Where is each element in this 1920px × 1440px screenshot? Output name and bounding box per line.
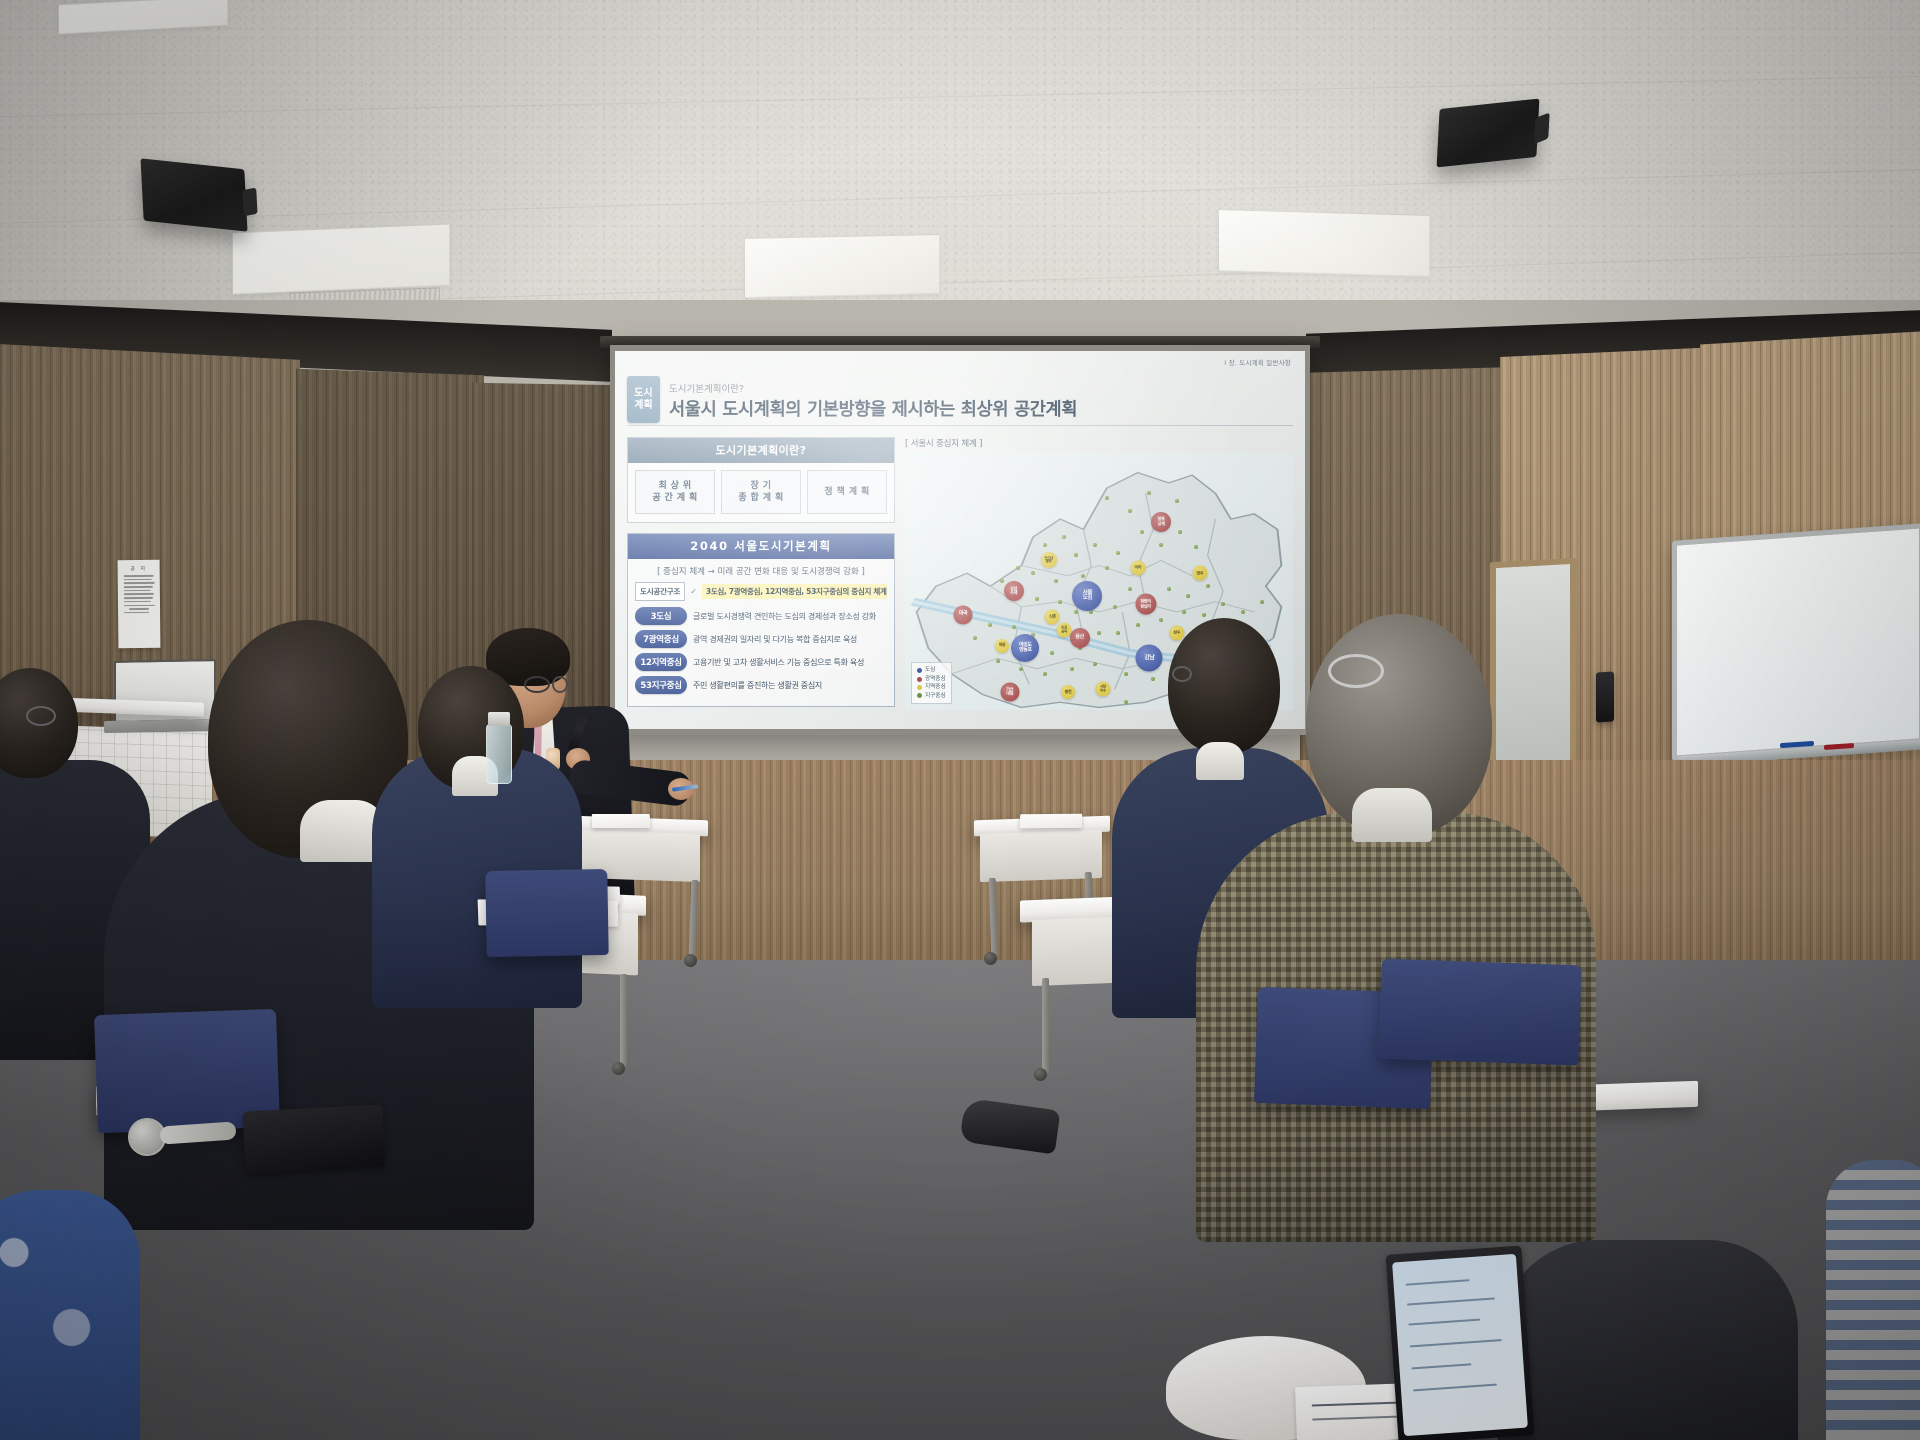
map-node-cheongnyangni: 청량리왕십리 (1135, 594, 1156, 615)
attendee-body (1498, 1240, 1798, 1440)
district-center-dot (1043, 543, 1047, 547)
smartphone-on-desk[interactable] (242, 1104, 385, 1173)
map-node-yongsan: 용산 (1070, 628, 1090, 648)
slide-header-tab: 도시 계획 (627, 376, 660, 423)
desk-front-panel (980, 830, 1102, 882)
district-center-dot (1147, 491, 1151, 495)
slide-header: 도시 계획 도시기본계획이란? 서울시 도시계획의 기본방향을 제시하는 최상위… (627, 376, 1293, 421)
district-center-dot (1167, 587, 1171, 591)
slide-left-column: 도시기본계획이란? 최 상 위 공 간 계 획 장 기 (627, 437, 895, 710)
map-node-sinchon: 신촌 (1045, 610, 1060, 625)
map-node-magok: 마곡 (954, 605, 973, 624)
district-center-dot (1116, 551, 1120, 555)
district-center-dot (1151, 677, 1155, 681)
whiteboard (1672, 523, 1920, 761)
legend-label: 도심 (925, 666, 935, 674)
slide-header-text: 도시기본계획이란? 서울시 도시계획의 기본방향을 제시하는 최상위 공간계획 (669, 381, 1293, 421)
notice-title: 공 지 (122, 565, 156, 572)
district-center-dot (1241, 610, 1245, 614)
chair-back (485, 869, 608, 957)
laptop-base (104, 719, 222, 733)
attendee-collar (1196, 742, 1244, 780)
attendee-glasses (1172, 666, 1192, 682)
district-center-dot (1019, 667, 1023, 671)
desk-leg (620, 974, 627, 1066)
ceiling-light-panel (232, 223, 450, 294)
phone-ui-line (1413, 1384, 1497, 1392)
district-center-dot (1016, 566, 1020, 570)
district-center-dot (1031, 571, 1035, 575)
legend-label: 지역중심 (925, 683, 946, 691)
district-center-dot (1178, 530, 1182, 534)
district-center-dot (1186, 594, 1190, 598)
master-plan-panel: 2040 서울도시기본계획 [ 중심지 체계 → 미래 공간 변화 대응 및 도… (627, 533, 895, 707)
ceiling-speaker-right (1437, 99, 1540, 168)
district-center-dot (1194, 545, 1198, 549)
legend-item: 지구중심 (917, 692, 946, 700)
slide-tab-line1: 도시 (634, 388, 652, 399)
district-center-dot (1202, 613, 1206, 617)
legend-item: 광역중심 (917, 675, 946, 683)
document-text-line (1312, 1415, 1408, 1420)
tier-description: 글로벌 도시경쟁력 견인하는 도심의 경제성과 장소성 강화 (693, 611, 876, 622)
district-center-dot (1054, 579, 1058, 583)
district-center-dot (1124, 700, 1128, 704)
tier-pill: 3도심 (635, 607, 687, 625)
district-center-dot (1050, 651, 1054, 655)
district-center-dot (1062, 535, 1066, 539)
tier-description: 고용기반 및 고차 생활서비스 기능 중심으로 특화 육성 (693, 657, 864, 668)
wall-notice: 공 지 (118, 560, 161, 648)
slide-subtitle: 도시기본계획이란? (669, 381, 1293, 395)
map-node-sangam: 상암수색 (1004, 581, 1024, 601)
phone-ui-line (1411, 1363, 1471, 1369)
phone-ui-line (1410, 1339, 1502, 1347)
district-center-dot (1159, 618, 1163, 622)
district-center-dot (973, 636, 977, 640)
district-center-dot (1070, 667, 1074, 671)
district-center-dot (1081, 574, 1085, 578)
lecture-room-photo: 공 지 I 장. 도시계획 일반사항 도시 계획 (0, 0, 1920, 1440)
presenter-glasses (524, 676, 550, 693)
definition-cell-line2: 종 합 계 획 (738, 492, 783, 504)
district-center-dot (1043, 672, 1047, 676)
definition-cell: 최 상 위 공 간 계 획 (635, 470, 715, 514)
water-bottle[interactable] (486, 724, 512, 784)
spatial-structure-tag: 도시공간구조 (635, 582, 685, 601)
smartphone-in-hand[interactable] (1386, 1245, 1535, 1440)
phone-ui-line (1406, 1279, 1470, 1285)
tier-row: 3도심 글로벌 도시경쟁력 견인하는 도심의 경제성과 장소성 강화 (635, 607, 887, 625)
definition-cells: 최 상 위 공 간 계 획 장 기 종 합 계 획 (628, 463, 894, 522)
slide-title: 서울시 도시계획의 기본방향을 제시하는 최상위 공간계획 (669, 396, 1293, 421)
desk-paper (1020, 814, 1082, 829)
tier-row: 7광역중심 광역 경제권의 일자리 및 다기능 복합 중심지로 육성 (635, 630, 887, 648)
desk-caster (1034, 1068, 1047, 1081)
tier-pill: 7광역중심 (635, 630, 687, 648)
slide-header-rule (627, 425, 1293, 426)
district-center-dot (1035, 597, 1039, 601)
district-center-dot (1182, 610, 1186, 614)
definition-panel-title: 도시기본계획이란? (628, 438, 894, 463)
district-center-dot (1093, 543, 1097, 547)
phone-ui-line (1408, 1319, 1480, 1326)
district-center-dot (1128, 509, 1132, 513)
district-center-dot (1105, 566, 1109, 570)
water-bottle-cap[interactable] (488, 712, 510, 726)
tier-description: 주민 생활편의를 증진하는 생활권 중심지 (693, 680, 822, 691)
ceiling-speaker-left (140, 158, 247, 231)
legend-item: 지역중심 (917, 683, 946, 691)
attendee-body (0, 1190, 140, 1440)
attendee-striped-sleeve (1826, 1160, 1920, 1440)
door-handle[interactable] (1502, 687, 1513, 692)
legend-dot-gwangyeok (917, 677, 922, 682)
definition-cell-line1: 최 상 위 (652, 480, 697, 492)
map-node-mokdong: 목동 (995, 639, 1009, 653)
legend-dot-jigu (917, 693, 922, 698)
district-center-dot (1206, 584, 1210, 588)
legend-dot-jiyeok (917, 685, 922, 690)
tier-description: 광역 경제권의 일자리 및 다기능 복합 중심지로 육성 (693, 634, 857, 645)
district-center-dot (1012, 625, 1016, 629)
map-node-yeouido: 여의도영등포 (1011, 634, 1039, 662)
map-node-seoul-doshim: 서울도심 (1072, 581, 1102, 611)
map-node-changdong: 창동상계 (1151, 512, 1171, 532)
district-center-dot (1113, 605, 1117, 609)
map-node-yeonsinnae: 연신내불광 (1041, 552, 1057, 568)
district-center-dot (996, 659, 1000, 663)
legend-label: 지구중심 (925, 692, 946, 700)
map-legend: 도심 광역중심 지역중심 (911, 662, 952, 704)
slide-tab-line2: 계획 (634, 400, 652, 411)
attendee-glasses (26, 706, 56, 726)
spatial-structure-highlight: 3도심, 7광역중심, 12지역중심, 53지구중심의 중심지 체계 (702, 584, 887, 599)
master-plan-title: 2040 서울도시기본계획 (628, 534, 894, 559)
district-center-dot (1175, 499, 1179, 503)
wall-intercom[interactable] (1596, 672, 1614, 723)
definition-cell-line2: 공 간 계 획 (652, 492, 697, 504)
attendee-glasses (1328, 654, 1384, 688)
district-center-dot (1136, 623, 1140, 627)
spatial-structure-row: 도시공간구조 ✓ 3도심, 7광역중심, 12지역중심, 53지구중심의 중심지… (635, 582, 887, 601)
district-center-dot (1000, 579, 1004, 583)
tier-pill: 12지역중심 (635, 653, 687, 671)
district-center-dot (988, 623, 992, 627)
check-icon: ✓ (690, 587, 697, 596)
map-node-gasan: 가산대림 (1000, 682, 1019, 701)
definition-panel: 도시기본계획이란? 최 상 위 공 간 계 획 장 기 (627, 437, 895, 523)
map-node-seongsu: 성수 (1169, 625, 1184, 640)
district-center-dot (1159, 543, 1163, 547)
definition-cell: 장 기 종 합 계 획 (721, 470, 801, 514)
desk-caster (684, 954, 697, 967)
desk-leg (1042, 978, 1049, 1074)
district-center-dot (1221, 602, 1225, 606)
map-node-mia: 미아 (1130, 561, 1145, 576)
legend-label: 광역중심 (925, 675, 946, 683)
district-center-dot (1097, 631, 1101, 635)
legend-item: 도심 (917, 666, 946, 674)
district-center-dot (1116, 631, 1120, 635)
district-center-dot (1058, 600, 1062, 604)
definition-cell-line1: 장 기 (738, 480, 783, 492)
attendee-collar (1352, 788, 1432, 842)
master-plan-body: [ 중심지 체계 → 미래 공간 변화 대응 및 도시경쟁력 강화 ] 도시공간… (628, 559, 894, 706)
presenter-glasses (552, 676, 568, 693)
district-center-dot (1140, 530, 1144, 534)
district-center-dot (1074, 553, 1078, 557)
definition-cell: 정 책 계 획 (807, 470, 887, 514)
map-node-mapo: 마포공덕 (1057, 623, 1072, 638)
district-center-dot (1124, 672, 1128, 676)
map-node-bongcheon: 봉천 (1061, 685, 1075, 699)
smartphone-screen[interactable] (1392, 1254, 1528, 1436)
desk-paper (592, 814, 650, 828)
slide-section-kicker: I 장. 도시계획 일반사항 (1224, 357, 1291, 367)
map-node-mangu: 망우 (1192, 566, 1207, 581)
district-center-dot (1093, 662, 1097, 666)
attendee-head (1168, 618, 1280, 754)
district-center-dot (1105, 496, 1109, 500)
master-plan-note: [ 중심지 체계 → 미래 공간 변화 대응 및 도시경쟁력 강화 ] (635, 565, 887, 577)
desk-caster (984, 952, 997, 965)
chair-back (1378, 959, 1581, 1066)
map-node-gangnam: 강남 (1136, 645, 1163, 672)
district-center-dot (1260, 600, 1264, 604)
ceiling-light-panel (1218, 209, 1430, 277)
ceiling-light-panel (744, 234, 940, 298)
tier-pill: 53지구중심 (635, 676, 687, 694)
district-center-dot (1128, 587, 1132, 591)
phone-ui-line (1407, 1297, 1495, 1305)
desk-caster (612, 1062, 625, 1075)
tier-row: 12지역중심 고용기반 및 고차 생활서비스 기능 중심으로 특화 육성 (635, 653, 887, 671)
tier-row: 53지구중심 주민 생활편의를 증진하는 생활권 중심지 (635, 676, 887, 694)
map-caption: [ 서울시 중심지 체계 ] (905, 437, 1293, 449)
legend-dot-doshim (917, 668, 922, 673)
district-center-dot (1074, 610, 1078, 614)
map-node-sadang: 사당이수 (1095, 682, 1110, 697)
definition-cell-line1: 정 책 계 획 (824, 486, 869, 498)
